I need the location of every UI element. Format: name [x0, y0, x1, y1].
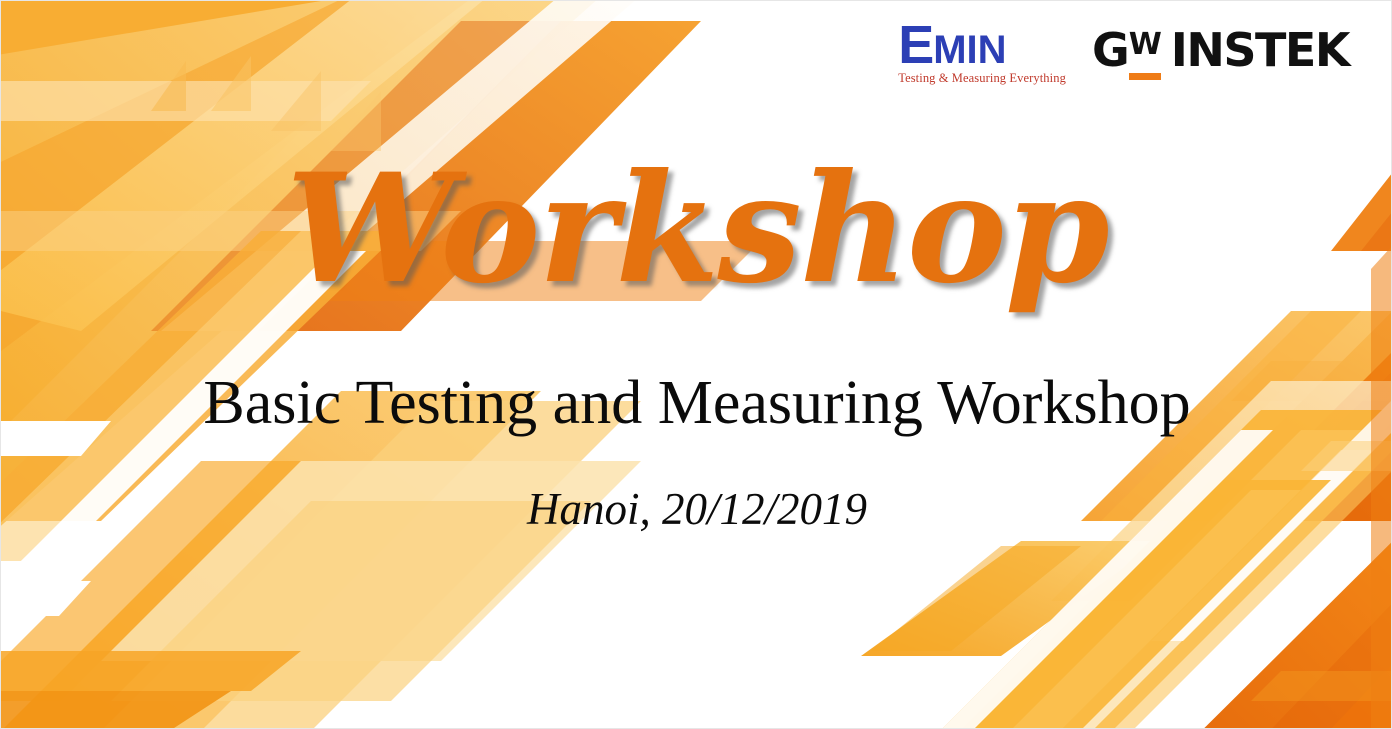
event-dateline: Hanoi, 20/12/2019	[1, 485, 1392, 535]
page-title: Workshop	[1, 151, 1392, 309]
workshop-banner: E MIN Testing & Measuring Everything G W…	[0, 0, 1392, 729]
banner-content: Workshop Basic Testing and Measuring Wor…	[1, 1, 1392, 729]
page-subtitle: Basic Testing and Measuring Workshop	[1, 369, 1392, 437]
